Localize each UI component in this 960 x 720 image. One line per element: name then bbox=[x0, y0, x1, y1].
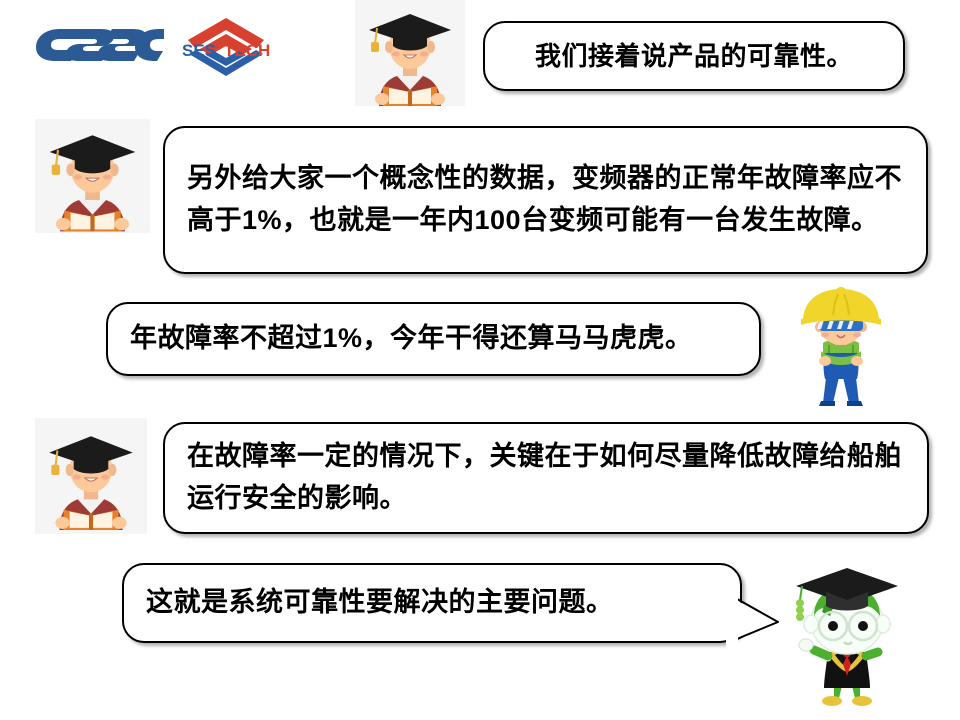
slide-canvas: SES TECH bbox=[0, 0, 960, 720]
speech-bubble-2-text: 另外给大家一个概念性的数据，变频器的正常年故障率应不高于1%，也就是一年内100… bbox=[187, 158, 904, 242]
speech-bubble-4[interactable]: 在故障率一定的情况下，关键在于如何尽量降低故障给船舶运行安全的影响。 bbox=[163, 422, 929, 534]
speech-bubble-4-text: 在故障率一定的情况下，关键在于如何尽量降低故障给船舶运行安全的影响。 bbox=[187, 436, 905, 520]
speech-bubble-1-text: 我们接着说产品的可靠性。 bbox=[507, 36, 881, 76]
speech-bubble-3-text: 年故障率不超过1%，今年干得还算马马虎虎。 bbox=[130, 318, 693, 360]
sestech-wordmark-right: TECH bbox=[224, 41, 270, 60]
engineer-worker-avatar bbox=[789, 283, 893, 407]
professor-graduate-avatar bbox=[782, 560, 910, 712]
speech-bubble-1[interactable]: 我们接着说产品的可靠性。 bbox=[483, 21, 905, 91]
speech-bubble-5-text: 这就是系统可靠性要解决的主要问题。 bbox=[146, 582, 614, 624]
graduate-student-avatar bbox=[35, 418, 147, 534]
speech-bubble-5[interactable]: 这就是系统可靠性要解决的主要问题。 bbox=[122, 563, 742, 643]
cssc-logo bbox=[30, 22, 170, 68]
sestech-logo: SES TECH bbox=[176, 14, 276, 80]
speech-bubble-2[interactable]: 另外给大家一个概念性的数据，变频器的正常年故障率应不高于1%，也就是一年内100… bbox=[163, 126, 928, 274]
sestech-wordmark-left: SES bbox=[182, 41, 216, 60]
speech-bubble-3[interactable]: 年故障率不超过1%，今年干得还算马马虎虎。 bbox=[106, 302, 761, 376]
graduate-student-avatar bbox=[35, 119, 150, 233]
graduate-student-avatar bbox=[355, 0, 465, 106]
